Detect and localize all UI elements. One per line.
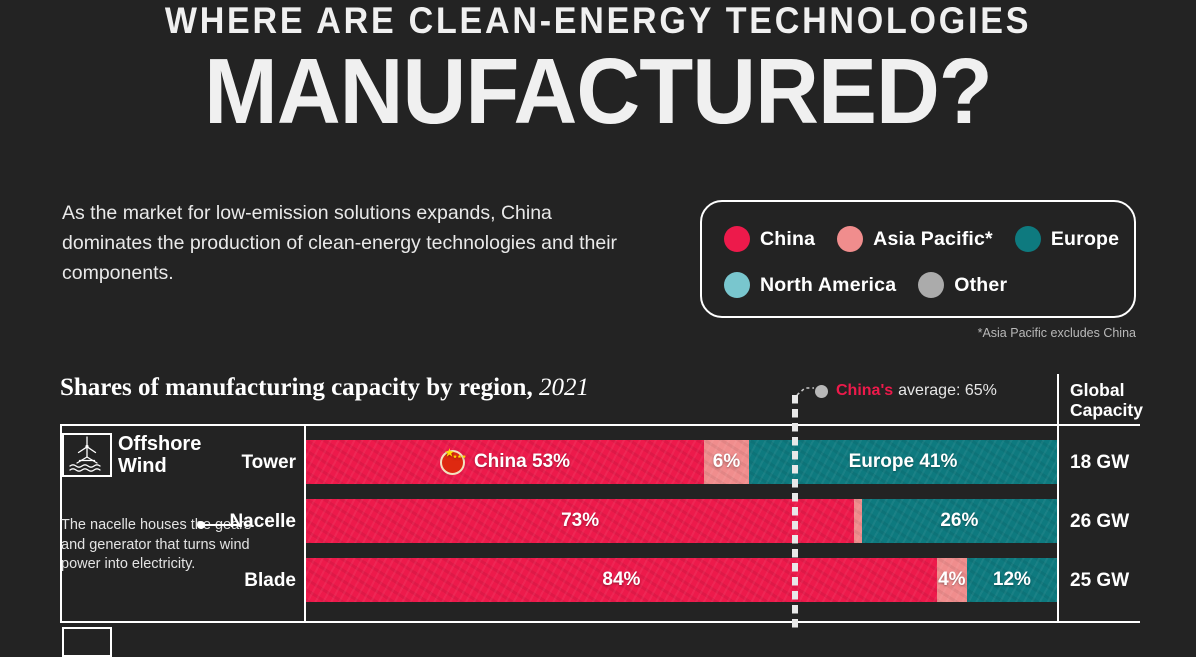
bar-segment-label: 12% (993, 569, 1031, 591)
average-label-text: average: 65% (898, 382, 997, 400)
legend-item-north-america: North America (724, 272, 896, 298)
bar-segment-label: 26% (940, 510, 978, 532)
table-header-rule (60, 424, 1140, 426)
china-average-annotation: China's average: 65% (815, 382, 997, 400)
bar-row-tower: China 53%6%Europe 41% (306, 440, 1057, 484)
bar-segment-value: 73% (561, 510, 599, 532)
section-title: Shares of manufacturing capacity by regi… (60, 374, 589, 402)
global-capacity-header-line2: Capacity (1070, 400, 1188, 420)
china-flag-icon (440, 450, 465, 475)
global-capacity-value-tower: 18 GW (1070, 452, 1188, 474)
bar-segment-value: 6% (713, 451, 740, 473)
legend-item-europe: Europe (1015, 226, 1119, 252)
legend-label-europe: Europe (1051, 228, 1119, 251)
legend-row-2: North America Other (724, 262, 1134, 308)
global-capacity-header-line1: Global (1070, 380, 1188, 400)
legend-swatch-other (918, 272, 944, 298)
global-capacity-value-blade: 25 GW (1070, 570, 1188, 592)
infographic-page: { "title": { "line1": "WHERE ARE CLEAN-E… (0, 0, 1196, 631)
section-title-year: 2021 (539, 374, 589, 401)
bar-segment-china: 84% (306, 558, 937, 602)
bar-segment-asia-pacific: 6% (704, 440, 749, 484)
bar-segment-label: 84% (602, 569, 640, 591)
bar-segment-europe: 12% (967, 558, 1057, 602)
bar-segment-label: 6% (713, 451, 740, 473)
page-title-line2: MANUFACTURED? (30, 45, 1166, 138)
table-bottom-rule (60, 621, 1140, 623)
global-capacity-header: Global Capacity (1070, 380, 1188, 420)
legend-item-asia-pacific: Asia Pacific* (837, 226, 993, 252)
legend-swatch-europe (1015, 226, 1041, 252)
bar-segment-europe: 26% (862, 499, 1057, 543)
bar-row-nacelle: 73%26% (306, 499, 1057, 543)
subtitle-text: As the market for low-emission solutions… (62, 198, 622, 288)
bar-segment-label: China 53% (440, 450, 570, 475)
legend: China Asia Pacific* Europe North America… (700, 200, 1136, 318)
bar-segment-value: 26% (940, 510, 978, 532)
bar-segment-asia-pacific: 4% (937, 558, 967, 602)
bar-segment-china: 73% (306, 499, 854, 543)
page-title-line1: WHERE ARE CLEAN-ENERGY TECHNOLOGIES (48, 2, 1148, 41)
bar-segment-value: 12% (993, 569, 1031, 591)
legend-label-north-america: North America (760, 274, 896, 297)
bar-segment-asia-pacific (854, 499, 862, 543)
bar-segment-value: 4% (938, 569, 965, 591)
bar-segment-label: 73% (561, 510, 599, 532)
bar-segment-value: China 53% (474, 451, 570, 473)
legend-item-other: Other (918, 272, 1007, 298)
average-label-emphasis: China's (836, 382, 893, 400)
legend-swatch-north-america (724, 272, 750, 298)
row-label-blade: Blade (0, 570, 296, 592)
section-title-text: Shares of manufacturing capacity by regi… (60, 374, 533, 401)
legend-label-china: China (760, 228, 815, 251)
bar-segment-label: 4% (938, 569, 965, 591)
china-average-dotted-line (792, 395, 798, 631)
row-label-tower: Tower (0, 452, 296, 474)
next-category-icon-box (62, 627, 112, 657)
row-label-nacelle: Nacelle (0, 511, 296, 533)
legend-item-china: China (724, 226, 815, 252)
table-divider-right (1057, 374, 1059, 622)
legend-row-1: China Asia Pacific* Europe (724, 216, 1134, 262)
legend-label-other: Other (954, 274, 1007, 297)
legend-label-asia-pacific: Asia Pacific* (873, 228, 993, 251)
bar-segment-value: 84% (602, 569, 640, 591)
bar-segment-label: Europe 41% (849, 451, 958, 473)
legend-swatch-asia-pacific (837, 226, 863, 252)
legend-swatch-china (724, 226, 750, 252)
global-capacity-value-nacelle: 26 GW (1070, 511, 1188, 533)
header-title-block: WHERE ARE CLEAN-ENERGY TECHNOLOGIES MANU… (0, 0, 1196, 138)
bar-segment-value: Europe 41% (849, 451, 958, 473)
bar-row-blade: 84%4%12% (306, 558, 1057, 602)
legend-footnote: *Asia Pacific excludes China (700, 326, 1136, 340)
bar-segment-china: China 53% (306, 440, 704, 484)
average-marker-dot (815, 385, 828, 398)
